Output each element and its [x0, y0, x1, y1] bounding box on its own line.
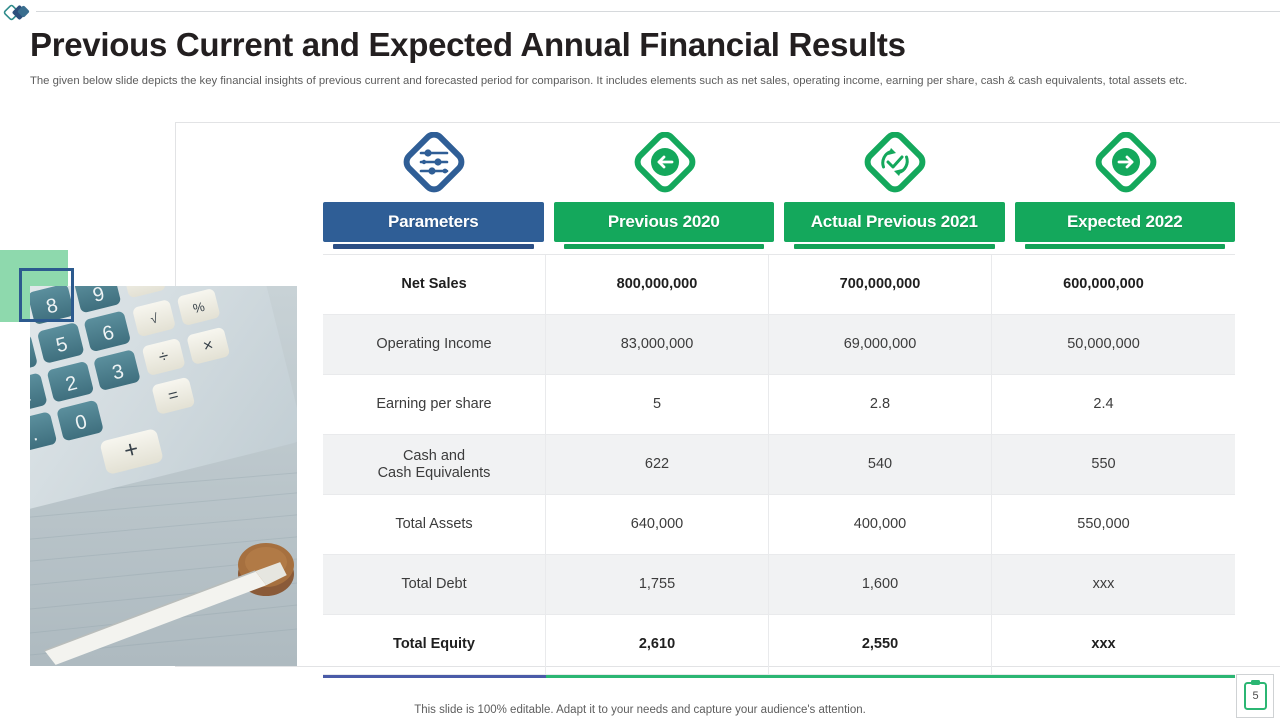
header-accent-bar [333, 244, 534, 249]
table-row: Total Debt1,7551,600xxx [323, 555, 1235, 615]
header-accent-bar [564, 244, 765, 249]
slide-number-badge: 5 [1243, 679, 1268, 712]
column-header-parameters[interactable]: Parameters [323, 202, 544, 242]
row-value-cell: 600,000,000 [992, 255, 1215, 314]
row-parameter-cell: Earning per share [323, 375, 546, 434]
column-header-label: Actual Previous 2021 [811, 212, 978, 232]
row-value-cell: 400,000 [769, 495, 992, 554]
header-accent-bar [1025, 244, 1226, 249]
row-value-cell: 2.8 [769, 375, 992, 434]
row-value-cell: 69,000,000 [769, 315, 992, 374]
table-row: Operating Income83,000,00069,000,00050,0… [323, 315, 1235, 375]
header-accent-bar [794, 244, 995, 249]
table-bottom-accent [323, 675, 1235, 678]
row-value-cell: 622 [546, 435, 769, 494]
page-title: Previous Current and Expected Annual Fin… [30, 26, 1130, 64]
table-row: Cash andCash Equivalents622540550 [323, 435, 1235, 495]
row-value-cell: 2,610 [546, 615, 769, 674]
column-header-label: Parameters [388, 212, 479, 232]
row-parameter-cell: Cash andCash Equivalents [323, 435, 546, 494]
row-value-cell: xxx [992, 615, 1215, 674]
row-parameter-cell: Total Assets [323, 495, 546, 554]
row-value-cell: 5 [546, 375, 769, 434]
row-value-cell: 700,000,000 [769, 255, 992, 314]
table-row: Earning per share52.82.4 [323, 375, 1235, 435]
company-logo [3, 1, 37, 23]
table-header-row: Parameters Previous 2020 [323, 202, 1235, 242]
bottom-accent-green [546, 675, 1235, 678]
bottom-accent-blue [323, 675, 546, 678]
row-value-cell: xxx [992, 555, 1215, 614]
row-value-cell: 640,000 [546, 495, 769, 554]
footer-note: This slide is 100% editable. Adapt it to… [0, 704, 1280, 716]
slide-number-text: 5 [1243, 679, 1268, 712]
row-parameter-cell: Net Sales [323, 255, 546, 314]
table-body: Net Sales800,000,000700,000,000600,000,0… [323, 254, 1235, 675]
row-value-cell: 800,000,000 [546, 255, 769, 314]
column-header-actual-previous-2021[interactable]: Actual Previous 2021 [784, 202, 1005, 242]
page-subtitle: The given below slide depicts the key fi… [30, 74, 1205, 88]
calculator-photo: 789 456 123 .0 MCMR M-M+ √% [30, 286, 297, 666]
column-header-previous-2020[interactable]: Previous 2020 [554, 202, 775, 242]
column-header-label: Expected 2022 [1067, 212, 1183, 232]
row-value-cell: 1,755 [546, 555, 769, 614]
row-value-cell: 550 [992, 435, 1215, 494]
decor-blue-outline-square [19, 268, 74, 322]
row-value-cell: 1,600 [769, 555, 992, 614]
row-parameter-cell: Total Equity [323, 615, 546, 674]
column-header-label: Previous 2020 [608, 212, 720, 232]
row-value-cell: 83,000,000 [546, 315, 769, 374]
row-value-cell: 2,550 [769, 615, 992, 674]
row-value-cell: 550,000 [992, 495, 1215, 554]
table-row: Total Equity2,6102,550xxx [323, 615, 1235, 675]
row-parameter-cell: Operating Income [323, 315, 546, 374]
table-row: Net Sales800,000,000700,000,000600,000,0… [323, 255, 1235, 315]
column-header-expected-2022[interactable]: Expected 2022 [1015, 202, 1236, 242]
row-value-cell: 50,000,000 [992, 315, 1215, 374]
row-value-cell: 2.4 [992, 375, 1215, 434]
financial-results-table: Parameters Previous 2020 [323, 202, 1235, 678]
table-row: Total Assets640,000400,000550,000 [323, 495, 1235, 555]
row-parameter-cell: Total Debt [323, 555, 546, 614]
header-divider [36, 11, 1280, 12]
row-value-cell: 540 [769, 435, 992, 494]
